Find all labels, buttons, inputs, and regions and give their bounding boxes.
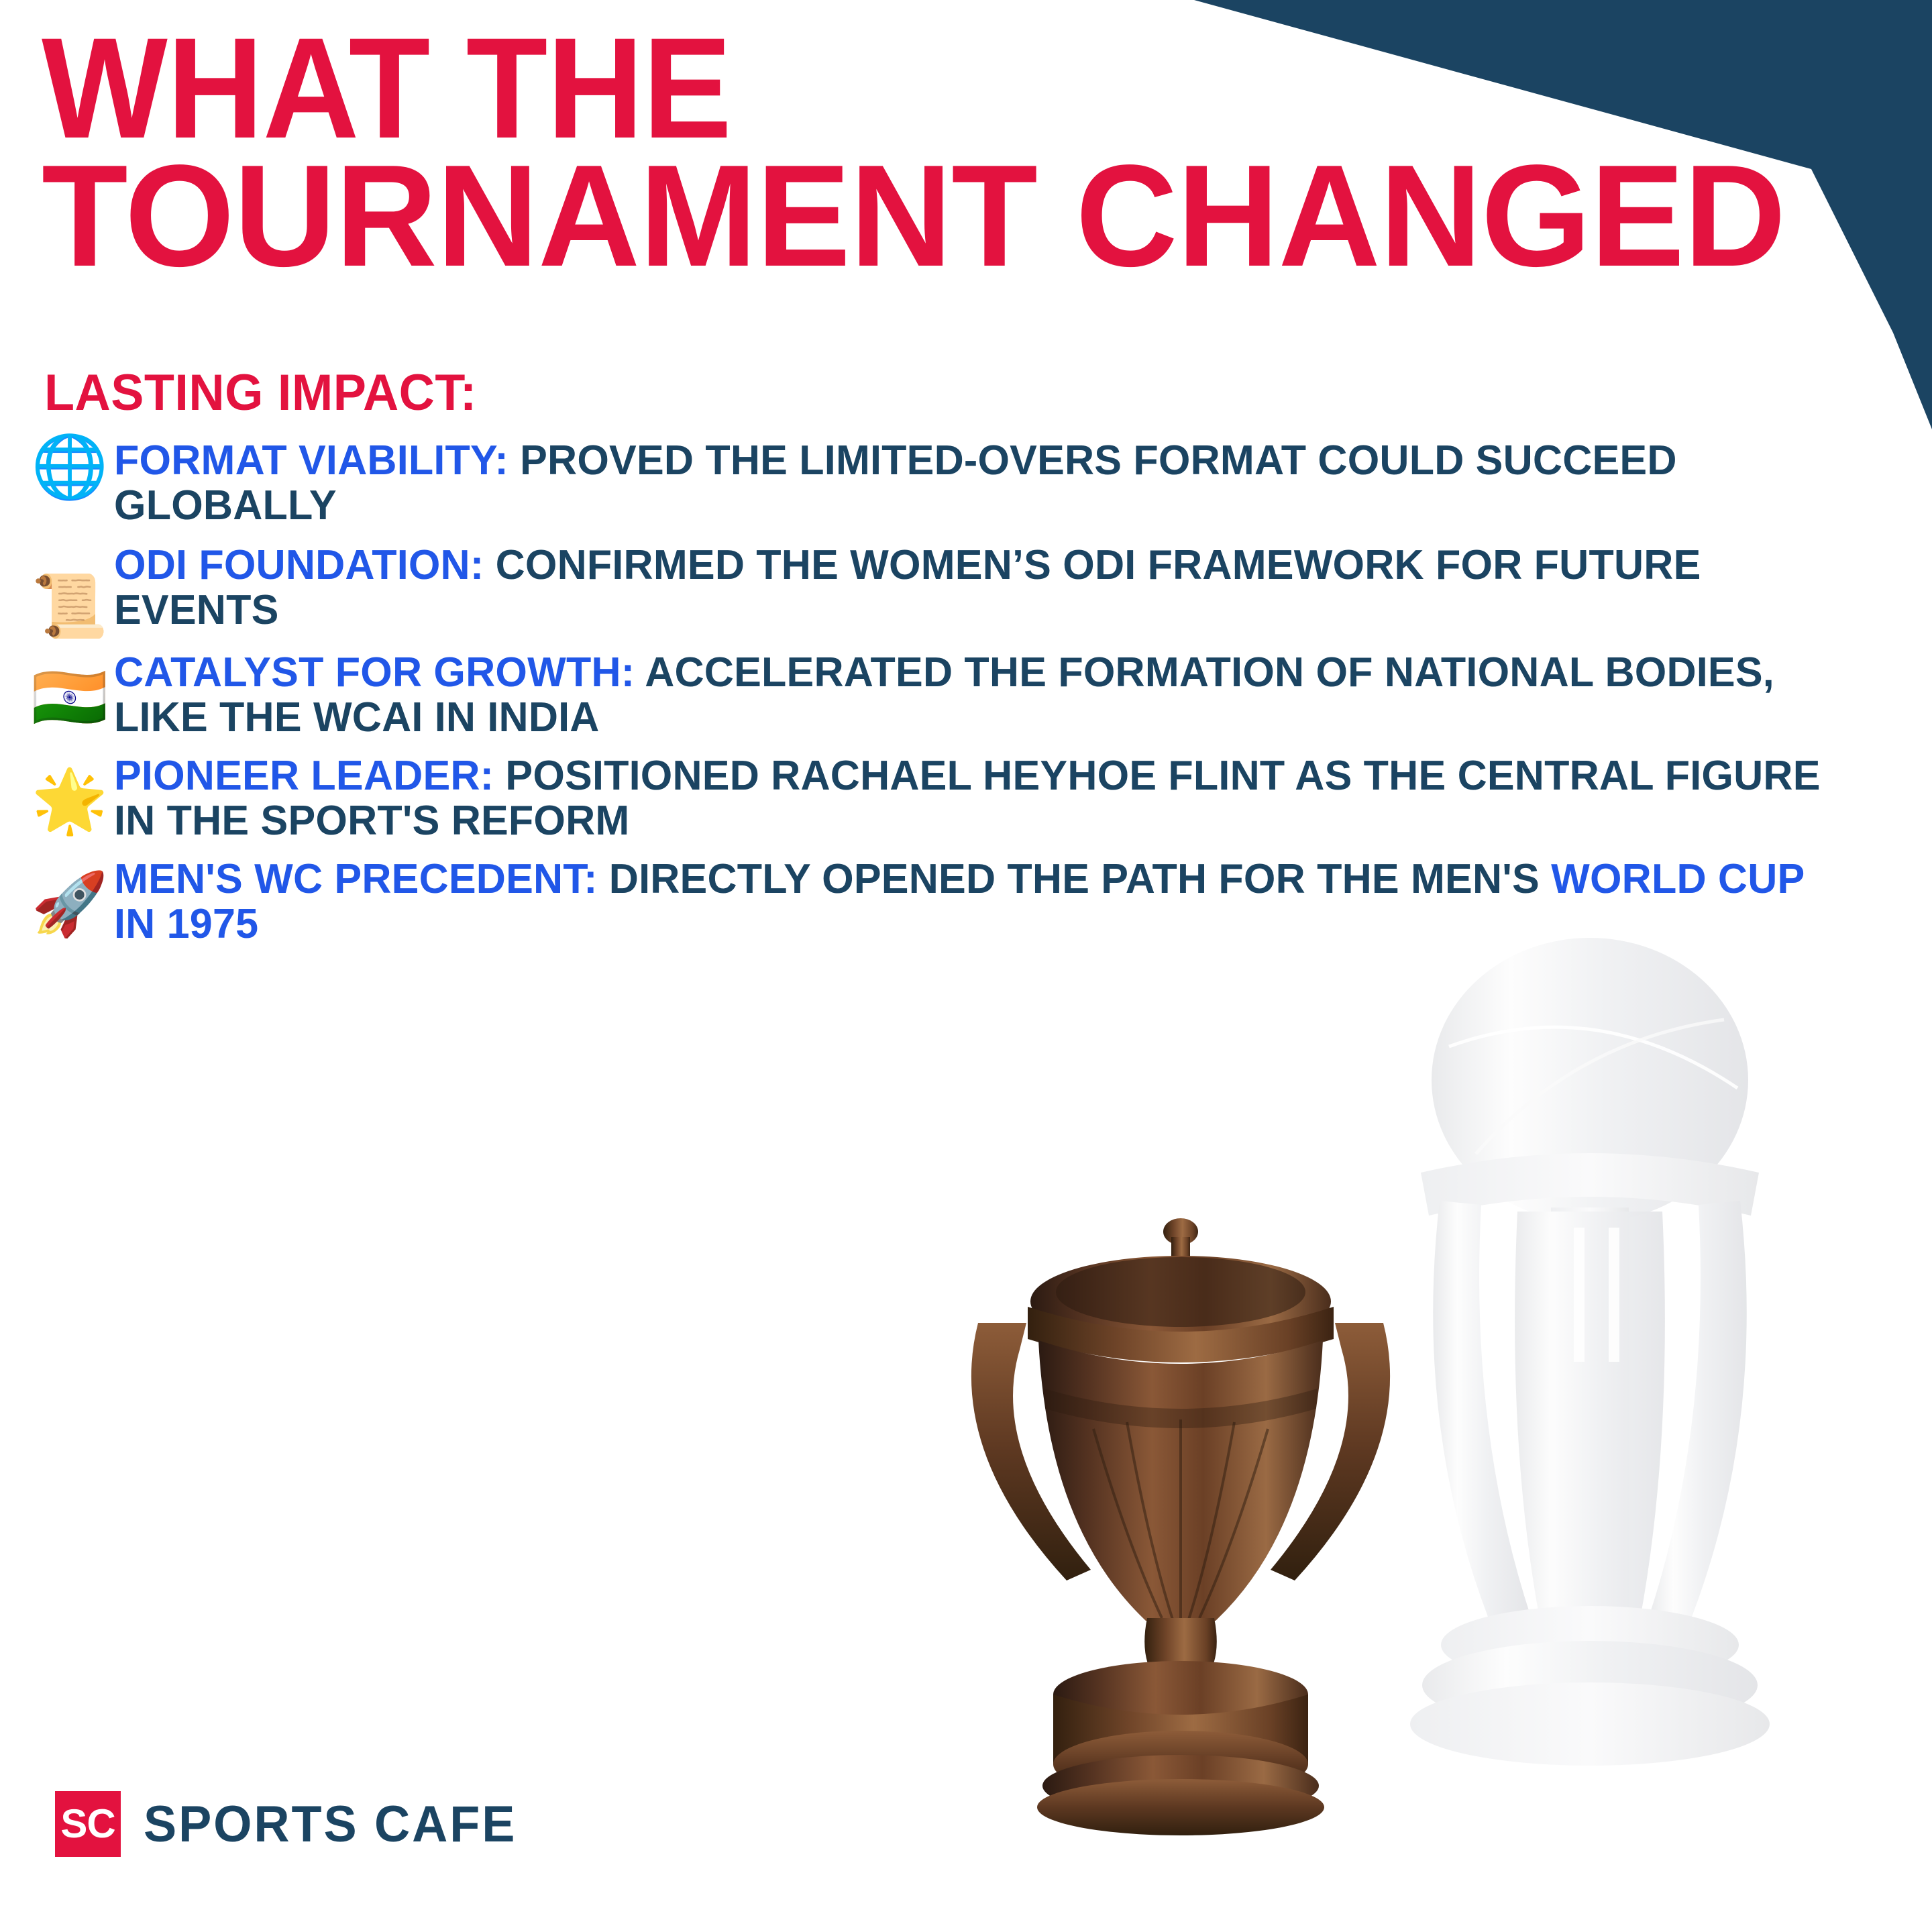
list-item: 🌟 PIONEER LEADER: POSITIONED RACHAEL HEY…	[25, 751, 1877, 844]
page-title: WHAT THE TOURNAMENT CHANGED	[42, 25, 1880, 279]
logo-mark-sc: SC	[55, 1791, 121, 1857]
list-item-text: MEN'S WC PRECEDENT: DIRECTLY OPENED THE …	[114, 855, 1851, 947]
brand-logo: SC SPORTS CAFE	[55, 1791, 529, 1857]
list-item: 🌐 FORMAT VIABILITY: PROVED THE LIMITED-O…	[25, 436, 1877, 529]
list-item-label: CATALYST FOR GROWTH:	[114, 649, 635, 696]
rocket-icon: 🚀	[25, 855, 114, 935]
list-item-text: CATALYST FOR GROWTH: ACCELERATED THE FOR…	[114, 648, 1851, 741]
list-item-label: ODI FOUNDATION:	[114, 542, 484, 588]
list-item-label: FORMAT VIABILITY:	[114, 437, 508, 484]
page-title-line-1: WHAT THE	[42, 25, 1751, 152]
list-item-label: PIONEER LEADER:	[114, 753, 494, 799]
list-item-text: FORMAT VIABILITY: PROVED THE LIMITED-OVE…	[114, 436, 1851, 529]
list-item: 📜 ODI FOUNDATION: CONFIRMED THE WOMEN’S …	[25, 541, 1877, 637]
bronze-cup-trophy	[926, 1207, 1436, 1905]
page-title-line-2: TOURNAMENT CHANGED	[42, 152, 1834, 279]
india-flag-icon: 🇮🇳	[25, 648, 114, 729]
list-item-label: MEN'S WC PRECEDENT:	[114, 856, 598, 902]
icc-world-cup-trophy	[1375, 912, 1805, 1798]
scroll-icon: 📜	[25, 541, 114, 637]
logo-wordmark: SPORTS CAFE	[144, 1795, 517, 1854]
list-item-body: DIRECTLY OPENED THE PATH FOR THE MEN'S	[598, 856, 1552, 902]
list-item: 🚀 MEN'S WC PRECEDENT: DIRECTLY OPENED TH…	[25, 855, 1877, 947]
globe-icon: 🌐	[25, 436, 114, 498]
list-item-text: ODI FOUNDATION: CONFIRMED THE WOMEN’S OD…	[114, 541, 1851, 633]
list-item: 🇮🇳 CATALYST FOR GROWTH: ACCELERATED THE …	[25, 648, 1877, 741]
section-subhead: LASTING IMPACT:	[44, 368, 477, 419]
list-item-text: PIONEER LEADER: POSITIONED RACHAEL HEYHO…	[114, 751, 1851, 844]
infographic-poster: WHAT THE TOURNAMENT CHANGED LASTING IMPA…	[0, 0, 1932, 1932]
lasting-impact-list: 🌐 FORMAT VIABILITY: PROVED THE LIMITED-O…	[25, 436, 1877, 957]
glowing-star-icon: 🌟	[25, 751, 114, 832]
